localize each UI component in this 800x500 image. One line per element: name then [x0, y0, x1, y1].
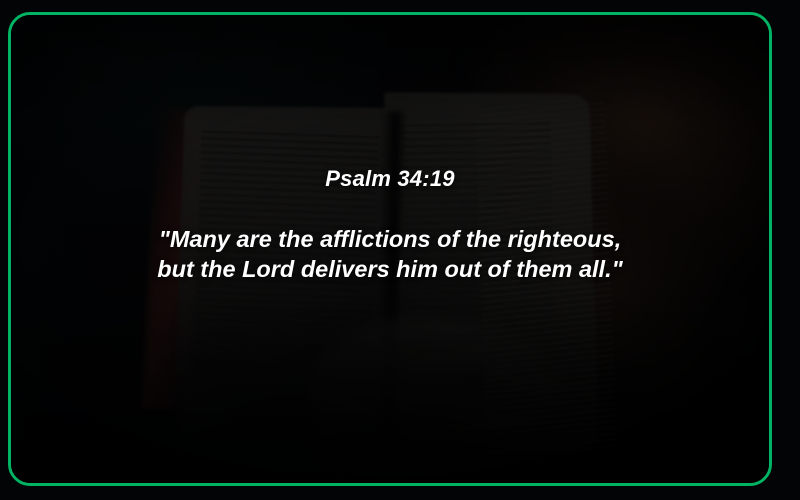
quote-card-canvas: Psalm 34:19 "Many are the afflictions of…	[0, 0, 800, 500]
verse-card: Psalm 34:19 "Many are the afflictions of…	[8, 12, 772, 486]
photo-vignette	[11, 15, 769, 483]
background-photo	[11, 15, 769, 483]
